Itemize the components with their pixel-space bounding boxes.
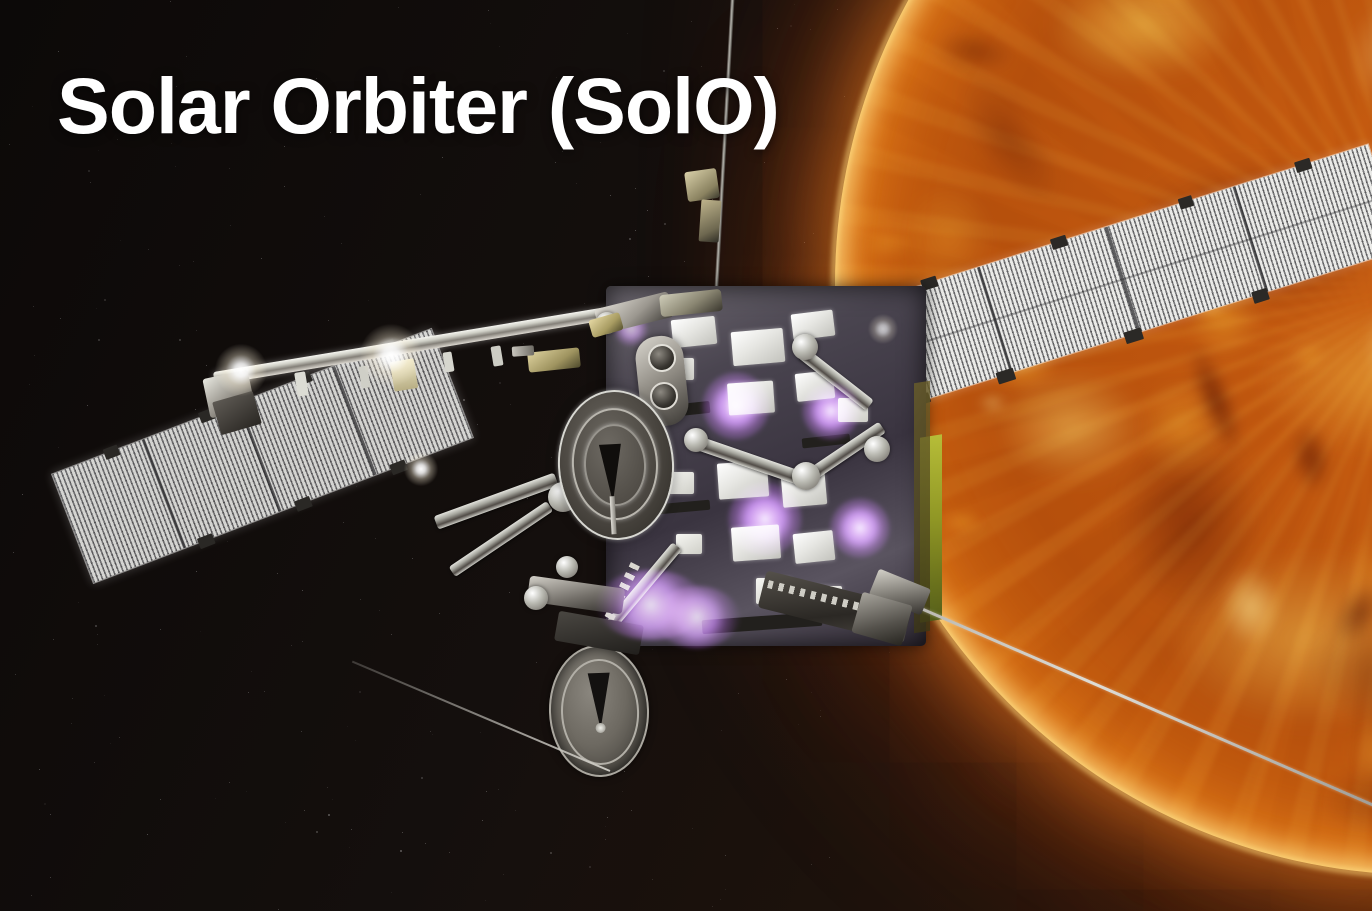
image-canvas: Solar Orbiter (SolO): [0, 0, 1372, 911]
panel-glint: [404, 452, 438, 486]
mli-patch: [731, 328, 786, 366]
right-solar-array: [863, 143, 1372, 409]
strut-node: [864, 436, 890, 462]
mli-patch: [727, 380, 775, 415]
antenna-stub: [512, 345, 535, 357]
solar-cells: [864, 144, 1372, 408]
antenna-feed-cone: [588, 673, 612, 730]
left-array-arm: [434, 473, 559, 530]
boom-collar: [442, 351, 454, 372]
boom-tip-glint: [215, 344, 267, 396]
wire-antenna: [905, 600, 1372, 810]
mast-bracket: [699, 199, 722, 242]
strut-node: [792, 462, 820, 490]
page-title: Solar Orbiter (SolO): [57, 66, 779, 145]
mast-bracket: [684, 168, 720, 202]
gold-bracket: [527, 347, 581, 372]
boom-mid-glint: [360, 324, 422, 386]
strut-node: [792, 334, 818, 360]
antenna-feed: [599, 444, 624, 503]
mli-patch: [793, 530, 836, 564]
lower-left-node: [524, 586, 548, 610]
mli-patch: [731, 524, 781, 561]
low-gain-antenna: [547, 643, 652, 778]
left-array-hinge: [556, 556, 578, 578]
bus-glint: [868, 314, 898, 344]
boom-collar: [490, 345, 503, 366]
strut-node: [684, 428, 708, 452]
